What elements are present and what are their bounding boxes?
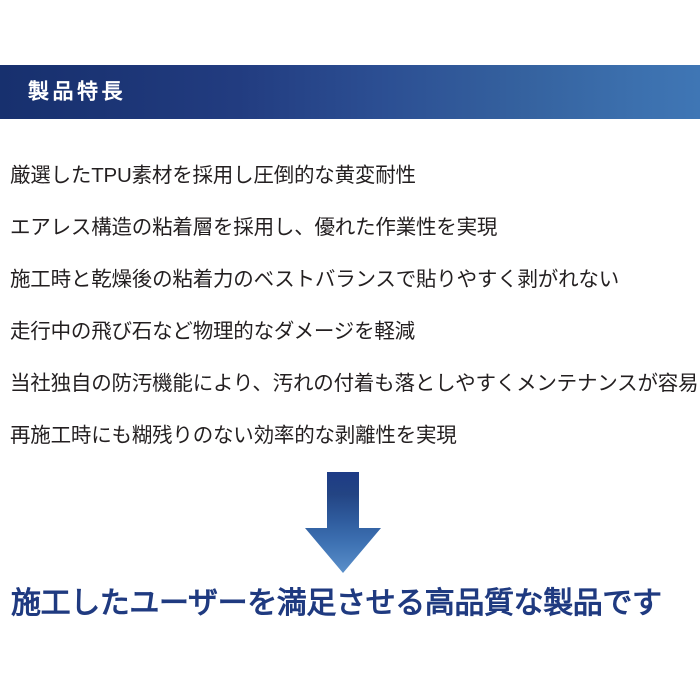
feature-item: 施工時と乾燥後の粘着力のベストバランスで貼りやすく剥がれない xyxy=(10,254,700,306)
product-features-page: 製品特長 厳選したTPU素材を採用し圧倒的な黄変耐性 エアレス構造の粘着層を採用… xyxy=(0,0,700,700)
arrow-down-icon xyxy=(303,472,383,574)
feature-list: 厳選したTPU素材を採用し圧倒的な黄変耐性 エアレス構造の粘着層を採用し、優れた… xyxy=(10,150,700,462)
feature-item: 厳選したTPU素材を採用し圧倒的な黄変耐性 xyxy=(10,150,700,202)
feature-item: 走行中の飛び石など物理的なダメージを軽減 xyxy=(10,306,700,358)
conclusion-headline: 施工したユーザーを満足させる高品質な製品です xyxy=(11,582,700,626)
feature-item: エアレス構造の粘着層を採用し、優れた作業性を実現 xyxy=(10,202,700,254)
section-header-band: 製品特長 xyxy=(0,65,700,119)
feature-item: 再施工時にも糊残りのない効率的な剥離性を実現 xyxy=(10,410,700,462)
section-header-title: 製品特長 xyxy=(28,82,126,103)
feature-item: 当社独自の防汚機能により、汚れの付着も落としやすくメンテナンスが容易 xyxy=(10,358,700,410)
